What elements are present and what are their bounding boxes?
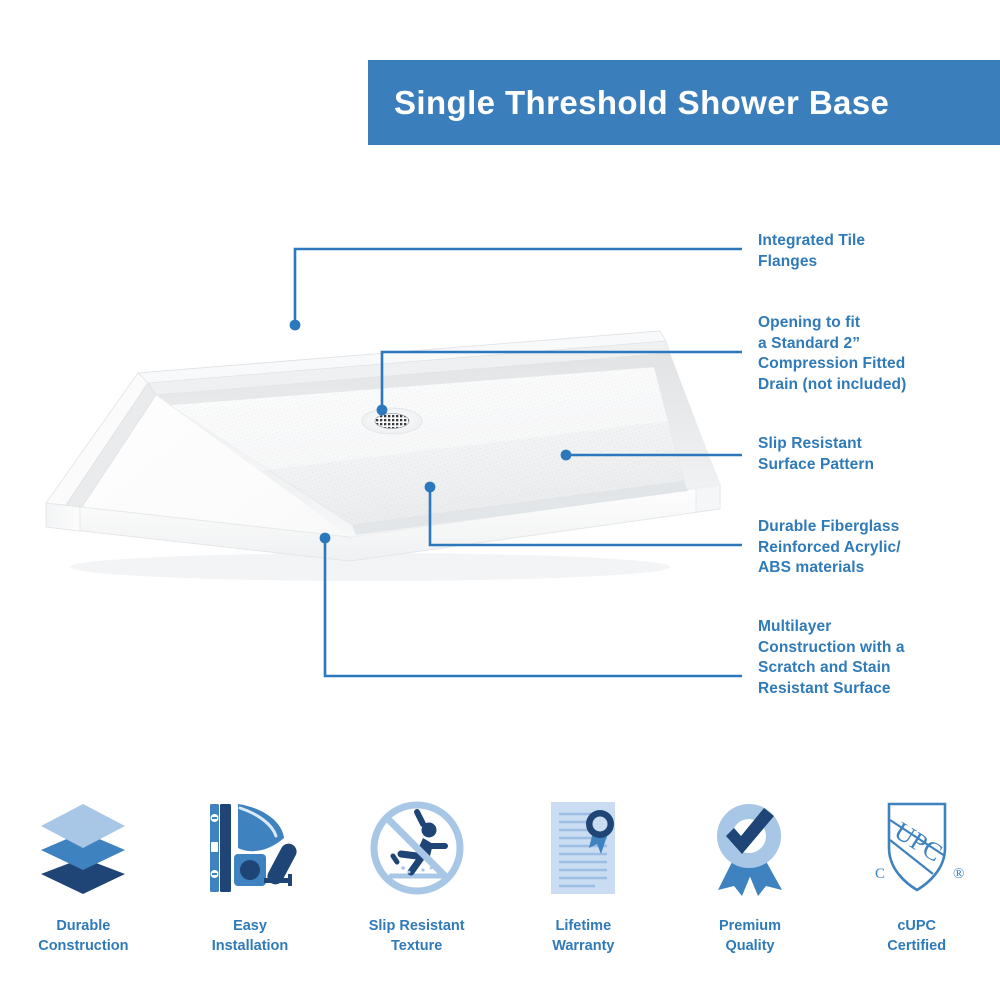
- callout-line: ABS materials: [758, 558, 901, 579]
- feature-premium-quality: Premium Quality: [667, 795, 834, 980]
- feature-label: Slip Resistant Texture: [369, 916, 465, 956]
- splash-drop: [407, 870, 410, 873]
- callout-line: Drain (not included): [758, 375, 906, 396]
- shower-base-illustration: [20, 295, 740, 595]
- callout-line: Durable Fiberglass: [758, 517, 901, 538]
- callout-line: Reinforced Acrylic/: [758, 538, 901, 559]
- level-vial-bottom-line: [212, 873, 217, 875]
- cupc-registered-mark: ®: [953, 866, 964, 882]
- level-trowel-icon: [196, 795, 304, 900]
- person-leg-front: [401, 854, 417, 856]
- seal-inner: [593, 816, 608, 831]
- cupc-shield-icon: UPC C ®: [863, 795, 971, 900]
- callout-line: a Standard 2”: [758, 334, 906, 355]
- shower-base-svg: [20, 295, 740, 595]
- base-left-face: [46, 503, 80, 531]
- callout-multilayer-construction: Multilayer Construction with a Scratch a…: [758, 617, 905, 699]
- person-arm-up: [417, 812, 423, 824]
- callout-line: Compression Fitted: [758, 354, 906, 375]
- feature-durable-construction: Durable Construction: [0, 795, 167, 980]
- title-banner: Single Threshold Shower Base: [368, 60, 1000, 145]
- feature-label: Premium Quality: [719, 916, 781, 956]
- callout-integrated-tile-flanges: Integrated Tile Flanges: [758, 231, 865, 272]
- feature-label: cUPC Certified: [887, 916, 946, 956]
- layer-top: [41, 804, 125, 848]
- feature-label: Lifetime Warranty: [552, 916, 614, 956]
- tape-measure-hook: [288, 874, 292, 886]
- callout-line: Integrated Tile: [758, 231, 865, 252]
- feature-label: Durable Construction: [38, 916, 128, 956]
- callout-durable-fiberglass: Durable Fiberglass Reinforced Acrylic/ A…: [758, 517, 901, 579]
- feature-slip-resistant-texture: Slip Resistant Texture: [333, 795, 500, 980]
- feature-lifetime-warranty: Lifetime Warranty: [500, 795, 667, 980]
- drain-assembly: [362, 408, 422, 434]
- feature-cupc-certified: UPC C ® cUPC Certified: [833, 795, 1000, 980]
- callout-slip-resistant-surface: Slip Resistant Surface Pattern: [758, 434, 874, 475]
- cupc-left-mark: C: [875, 866, 885, 882]
- callout-line: Scratch and Stain: [758, 658, 905, 679]
- page-title: Single Threshold Shower Base: [368, 84, 889, 122]
- no-slip-icon: [363, 795, 471, 900]
- splash-drop: [401, 866, 405, 870]
- callout-line: Resistant Surface: [758, 679, 905, 700]
- callout-line: Multilayer: [758, 617, 905, 638]
- callout-line: Opening to fit: [758, 313, 906, 334]
- callout-line: Slip Resistant: [758, 434, 874, 455]
- award-ribbon-icon: [696, 795, 804, 900]
- level-vial-top-line: [212, 817, 217, 819]
- tape-measure-blade: [264, 878, 290, 883]
- base-right-face: [696, 485, 720, 512]
- layers-icon: [29, 795, 137, 900]
- feature-easy-installation: Easy Installation: [167, 795, 334, 980]
- callout-line: Flanges: [758, 252, 865, 273]
- splash-drop: [421, 868, 424, 871]
- warranty-page-icon: [529, 795, 637, 900]
- infographic-canvas: Single Threshold Shower Base: [0, 0, 1000, 1000]
- callout-drain-opening: Opening to fit a Standard 2” Compression…: [758, 313, 906, 395]
- person-foot: [393, 856, 397, 862]
- level-vial-mid: [211, 842, 218, 852]
- person-leg-back: [411, 858, 421, 872]
- callout-line: Surface Pattern: [758, 455, 874, 476]
- callout-line: Construction with a: [758, 638, 905, 659]
- feature-label: Easy Installation: [212, 916, 289, 956]
- feature-badges-row: Durable Construction: [0, 795, 1000, 980]
- level-body-right: [220, 804, 231, 892]
- tape-measure-reel: [240, 860, 260, 880]
